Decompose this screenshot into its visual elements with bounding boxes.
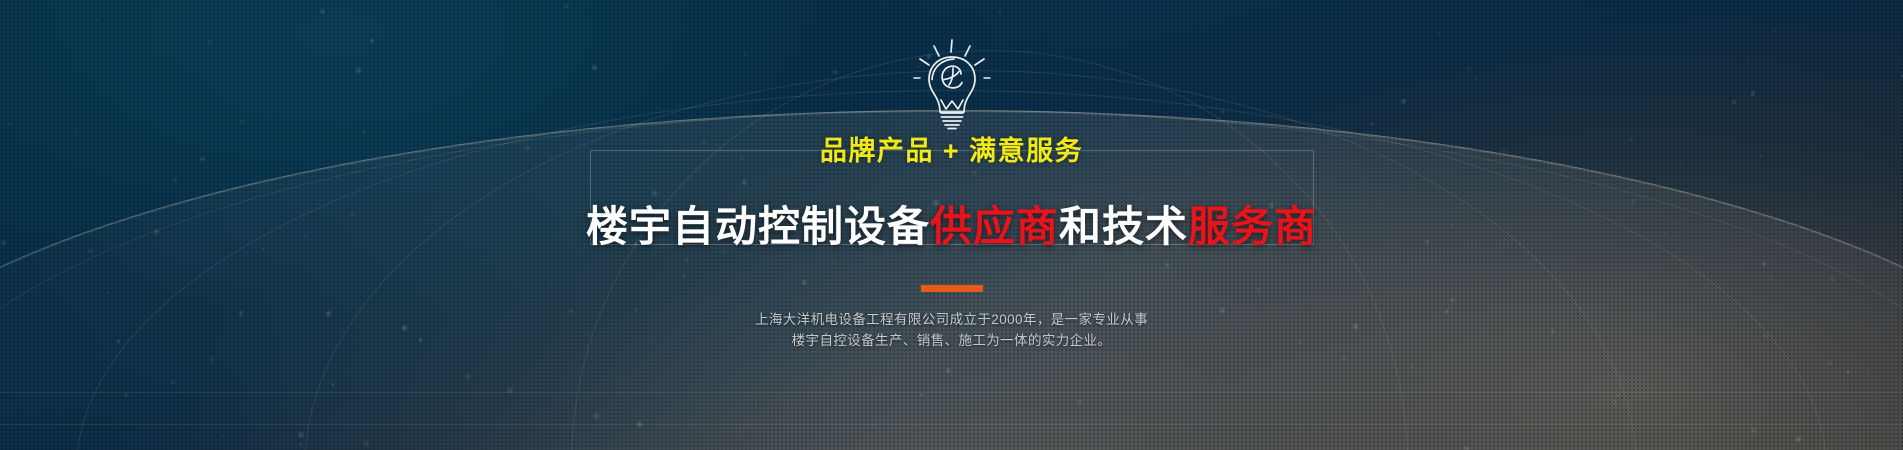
description-block: 上海大洋机电设备工程有限公司成立于2000年，是一家专业从事 楼宇自控设备生产、… (755, 309, 1148, 351)
headline-highlight-supplier: 供应商 (930, 203, 1059, 250)
hero-banner: 品牌产品 + 满意服务 楼宇自动控制设备供应商和技术服务商 上海大洋机电设备工程… (0, 0, 1903, 450)
tagline-text: 品牌产品 + 满意服务 (798, 134, 1105, 168)
headline-highlight-service: 服务商 (1188, 203, 1317, 250)
banner-content: 品牌产品 + 满意服务 楼宇自动控制设备供应商和技术服务商 上海大洋机电设备工程… (0, 0, 1903, 450)
description-line-2: 楼宇自控设备生产、销售、施工为一体的实力企业。 (755, 330, 1148, 351)
orange-divider (921, 285, 983, 292)
description-line-1: 上海大洋机电设备工程有限公司成立于2000年，是一家专业从事 (755, 309, 1148, 330)
headline-part-3: 和技术 (1059, 203, 1188, 250)
headline-frame: 品牌产品 + 满意服务 楼宇自动控制设备供应商和技术服务商 (590, 150, 1314, 245)
lightbulb-e-icon (909, 38, 995, 130)
headline-part-1: 楼宇自动控制设备 (586, 203, 930, 250)
headline-text: 楼宇自动控制设备供应商和技术服务商 (576, 201, 1327, 253)
